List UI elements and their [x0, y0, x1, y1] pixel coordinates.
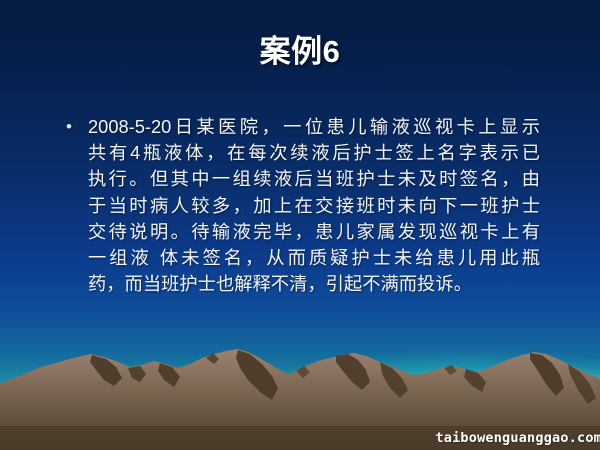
body-line: 2008-5-20日某医院，一位患儿输液巡视卡上显示: [88, 114, 540, 140]
body-line: 于当时病人较多，加上在交接班时未向下一班护士: [88, 193, 540, 219]
body-paragraph: 2008-5-20日某医院，一位患儿输液巡视卡上显示 共有4瓶液体，在每次续液后…: [88, 114, 540, 297]
watermark-text: taibowenguanggao.com: [435, 430, 600, 446]
body-bullet-block: • 2008-5-20日某医院，一位患儿输液巡视卡上显示 共有4瓶液体，在每次续…: [66, 114, 540, 297]
body-line: 药，而当班护士也解释不清，引起不满而投诉。: [88, 271, 540, 297]
body-line: 执行。但其中一组续液后当班护士未及时签名，由: [88, 166, 540, 192]
bullet-marker-icon: •: [66, 114, 88, 140]
slide-title: 案例6: [0, 33, 600, 70]
body-line: 交待说明。待输液完毕，患儿家属发现巡视卡上有: [88, 219, 540, 245]
body-line: 共有4瓶液体，在每次续液后护士签上名字表示已: [88, 140, 540, 166]
body-line: 一组液 体未签名，从而质疑护士未给患儿用此瓶: [88, 245, 540, 271]
slide-canvas: 案例6 • 2008-5-20日某医院，一位患儿输液巡视卡上显示 共有4瓶液体，…: [0, 0, 600, 450]
